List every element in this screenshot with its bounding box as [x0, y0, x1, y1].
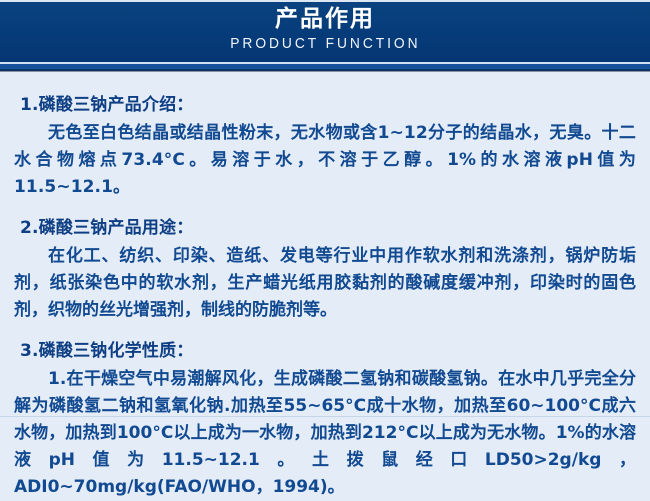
section-body-text: 在化工、纺织、印染、造纸、发电等行业中用作软水剂和洗涤剂，锅炉防垢剂，纸张染色中… [14, 243, 636, 324]
page-subtitle: PRODUCT FUNCTION [230, 34, 420, 54]
content-area: 1.磷酸三钠产品介绍： 无色至白色结晶或结晶性粉末，无水物或含1~12分子的结晶… [0, 72, 650, 501]
section-heading: 2.磷酸三钠产品用途： [20, 215, 636, 242]
section-chemical-properties: 3.磷酸三钠化学性质： 1.在干燥空气中易潮解风化，生成磷酸二氢钠和碳酸氢钠。在… [14, 338, 636, 501]
banner-text-group: 产品作用 PRODUCT FUNCTION [0, 2, 650, 62]
section-heading: 1.磷酸三钠产品介绍： [20, 92, 636, 119]
page-header-banner: 产品作用 PRODUCT FUNCTION [0, 0, 650, 72]
page-title: 产品作用 [275, 5, 375, 33]
section-product-uses: 2.磷酸三钠产品用途： 在化工、纺织、印染、造纸、发电等行业中用作软水剂和洗涤剂… [14, 215, 636, 324]
section-body-text: 无色至白色结晶或结晶性粉末，无水物或含1~12分子的结晶水，无臭。十二水合物熔点… [14, 120, 636, 201]
section-product-introduction: 1.磷酸三钠产品介绍： 无色至白色结晶或结晶性粉末，无水物或含1~12分子的结晶… [14, 92, 636, 201]
product-function-page: 产品作用 PRODUCT FUNCTION 1.磷酸三钠产品介绍： 无色至白色结… [0, 0, 650, 417]
section-heading: 3.磷酸三钠化学性质： [20, 338, 636, 365]
section-body-text: 1.在干燥空气中易潮解风化，生成磷酸二氢钠和碳酸氢钠。在水中几乎完全分解为磷酸氢… [14, 366, 636, 501]
